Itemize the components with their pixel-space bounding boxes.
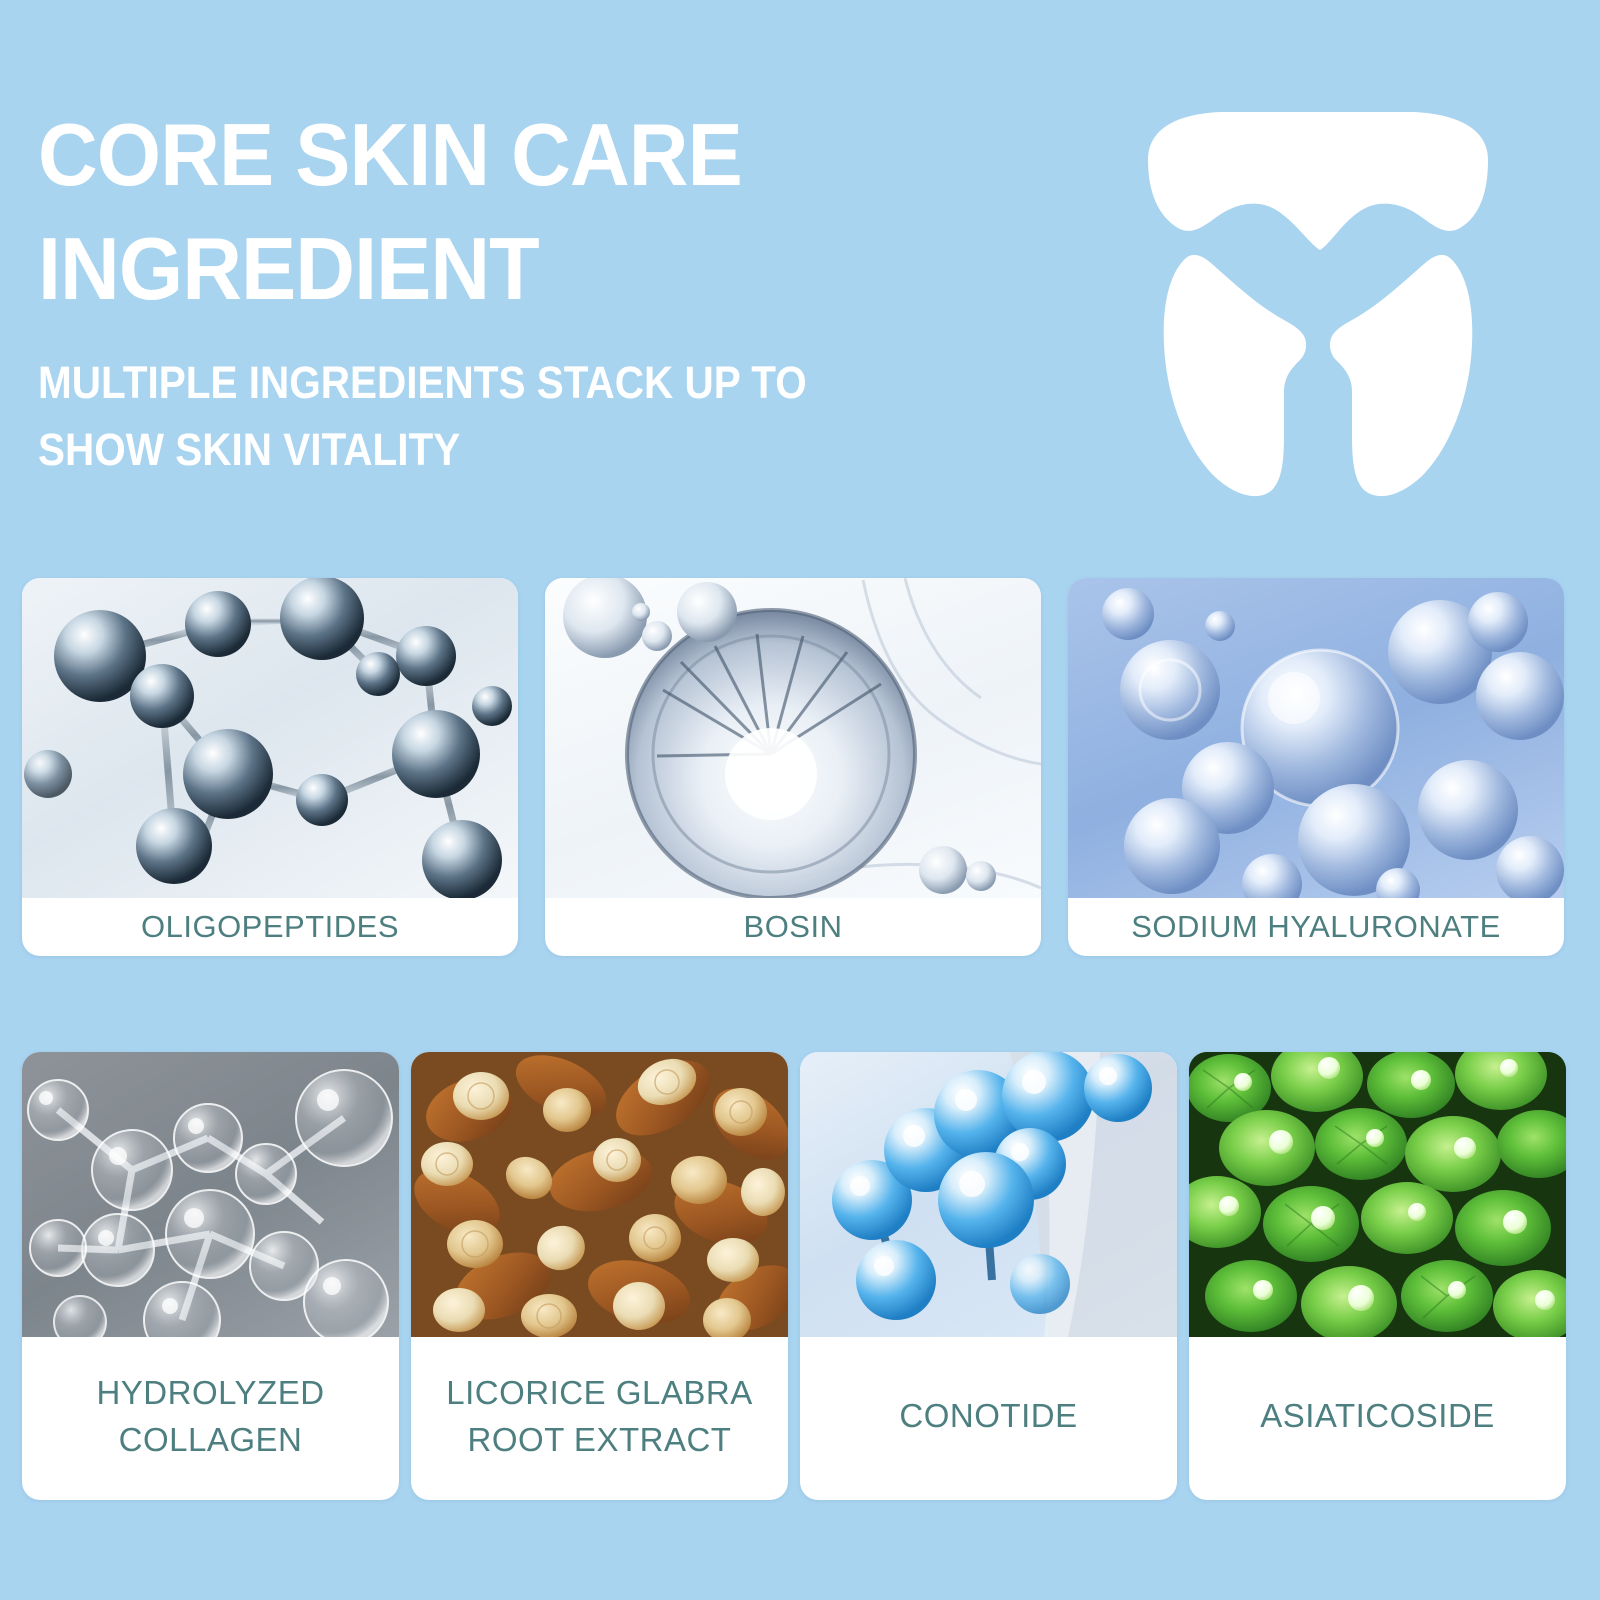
molecular-structure-chrome-spheres-image bbox=[22, 578, 518, 898]
transparent-molecule-gray-image bbox=[22, 1052, 399, 1337]
ingredient-label: HYDROLYZED COLLAGEN bbox=[22, 1337, 399, 1500]
centella-asiatica-leaves-image bbox=[1189, 1052, 1566, 1337]
ingredient-row-1: OLIGOPEPTIDES bbox=[22, 578, 1584, 956]
ingredient-label: LICORICE GLABRA ROOT EXTRACT bbox=[411, 1337, 788, 1500]
ingredient-card-licorice-glabra-root-extract[interactable]: LICORICE GLABRA ROOT EXTRACT bbox=[411, 1052, 788, 1500]
ingredient-label: SODIUM HYALURONATE bbox=[1068, 898, 1564, 956]
ingredient-row-2: HYDROLYZED COLLAGEN bbox=[22, 1052, 1584, 1500]
face-mask-patch-set-icon bbox=[1108, 92, 1528, 512]
ingredient-card-conotide[interactable]: CONOTIDE bbox=[800, 1052, 1177, 1500]
page-title: CORE SKIN CARE INGREDIENT bbox=[38, 98, 1025, 327]
ingredient-card-oligopeptides[interactable]: OLIGOPEPTIDES bbox=[22, 578, 518, 956]
page-subtitle: MULTIPLE INGREDIENTS STACK UP TO SHOW SK… bbox=[38, 349, 983, 484]
ingredient-label: OLIGOPEPTIDES bbox=[22, 898, 518, 956]
header-block: CORE SKIN CARE INGREDIENT MULTIPLE INGRE… bbox=[38, 98, 1088, 484]
ingredient-card-sodium-hyaluronate[interactable]: SODIUM HYALURONATE bbox=[1068, 578, 1564, 956]
ingredient-card-bosin[interactable]: BOSIN bbox=[545, 578, 1041, 956]
ingredient-label: CONOTIDE bbox=[800, 1337, 1177, 1500]
ingredient-label: BOSIN bbox=[545, 898, 1041, 956]
blue-water-bubbles-image bbox=[1068, 578, 1564, 898]
ingredient-card-hydrolyzed-collagen[interactable]: HYDROLYZED COLLAGEN bbox=[22, 1052, 399, 1500]
water-droplet-bubble-macro-image bbox=[545, 578, 1041, 898]
blue-molecule-spheres-image bbox=[800, 1052, 1177, 1337]
ingredient-card-asiaticoside[interactable]: ASIATICOSIDE bbox=[1189, 1052, 1566, 1500]
sliced-licorice-root-image bbox=[411, 1052, 788, 1337]
ingredient-label: ASIATICOSIDE bbox=[1189, 1337, 1566, 1500]
